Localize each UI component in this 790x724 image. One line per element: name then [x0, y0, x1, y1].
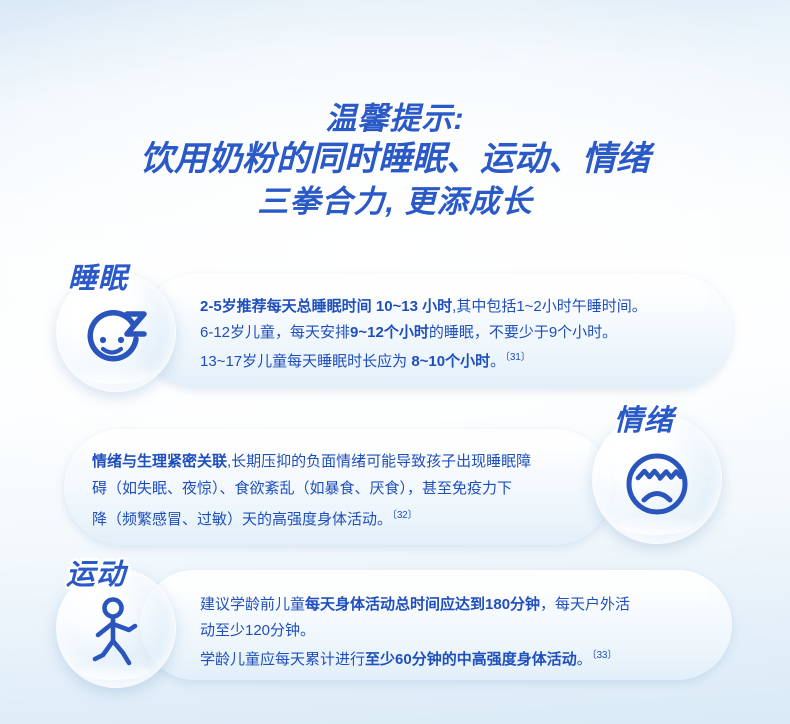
sleep-text-emphasis: 9~12个小时: [350, 324, 429, 341]
page-title-line-3: 三拳合力, 更添成长: [0, 181, 790, 223]
exercise-text-line: 动至少120分钟。: [200, 618, 630, 644]
emotion-label: 情绪: [614, 397, 674, 439]
page-title-line-1: 温馨提示:: [0, 100, 790, 138]
sleep-body-text: 2-5岁推荐每天总睡眠时间 10~13 小时,其中包括1~2小时午睡时间。6-1…: [200, 294, 647, 375]
sleep-text-emphasis: 10~13 小时: [376, 298, 452, 315]
sleep-reference-marker: 〔31〕: [505, 352, 530, 363]
sleep-text-line: 2-5岁推荐每天总睡眠时间 10~13 小时,其中包括1~2小时午睡时间。: [200, 294, 647, 320]
exercise-label: 运动: [66, 551, 126, 593]
exercise-text-run: 建议学龄前儿童: [200, 596, 305, 613]
promo-page: 温馨提示: 饮用奶粉的同时睡眠、运动、情绪 三拳合力, 更添成长 睡眠 2-5岁…: [0, 0, 790, 724]
walking-person-icon: [85, 597, 147, 669]
emotion-text-run: ,长期压抑的负面情绪可能导致孩子出现睡眠障: [227, 453, 531, 470]
exercise-text-line: 建议学龄前儿童每天身体活动总时间应达到180分钟，每天户外活: [200, 592, 630, 618]
sleep-text-run: 6-12岁儿童，每天安排: [200, 324, 350, 341]
exercise-text-line: 学龄儿童应每天累计进行至少60分钟的中高强度身体活动。〔33〕: [200, 643, 630, 673]
sleep-text-emphasis: 2-5岁推荐每天总睡眠时间: [200, 298, 376, 315]
exercise-text-emphasis: 至少60分钟的中高强度身体活动: [365, 651, 577, 668]
exercise-text-run: 动至少120分钟。: [200, 622, 315, 639]
page-title-line-2: 饮用奶粉的同时睡眠、运动、情绪: [0, 138, 790, 181]
sleep-text-run: ,其中包括1~2小时午睡时间。: [452, 298, 647, 315]
sleep-text-run: 13~17岁儿童每天睡眠时长应为: [200, 353, 411, 370]
exercise-body-text: 建议学龄前儿童每天身体活动总时间应达到180分钟，每天户外活动至少120分钟。学…: [200, 592, 630, 673]
emotion-body-text: 情绪与生理紧密关联,长期压抑的负面情绪可能导致孩子出现睡眠障碍（如失眠、夜惊）、…: [92, 448, 531, 533]
exercise-reference-marker: 〔33〕: [592, 650, 617, 661]
emotion-text-line: 情绪与生理紧密关联,长期压抑的负面情绪可能导致孩子出现睡眠障: [92, 448, 531, 475]
sleep-text-line: 6-12岁儿童，每天安排9~12个小时的睡眠，不要少于9个小时。: [200, 320, 647, 346]
exercise-text-run: 。: [577, 651, 592, 668]
emotion-text-run: 碍（如失眠、夜惊）、食欲紊乱（如暴食、厌食），甚至免疫力下: [92, 480, 512, 497]
emotion-text-line: 碍（如失眠、夜惊）、食欲紊乱（如暴食、厌食），甚至免疫力下: [92, 475, 531, 502]
exercise-text-emphasis: 每天身体活动总时间应达到180分钟: [305, 596, 540, 613]
exercise-text-run: 学龄儿童应每天累计进行: [200, 651, 365, 668]
emotion-text-line: 降（频繁感冒、过敏）天的高强度身体活动。〔32〕: [92, 502, 531, 533]
sleep-label: 睡眠: [68, 255, 128, 297]
sleepy-face-icon: [81, 305, 151, 369]
distressed-face-icon: [621, 448, 693, 520]
emotion-text-emphasis: 情绪与生理紧密关联: [92, 453, 227, 470]
exercise-text-run: ，每天户外活: [540, 596, 630, 613]
sleep-text-line: 13~17岁儿童每天睡眠时长应为 8~10个小时。〔31〕: [200, 345, 647, 375]
sleep-text-emphasis: 8~10个小时: [411, 353, 490, 370]
page-title: 温馨提示: 饮用奶粉的同时睡眠、运动、情绪 三拳合力, 更添成长: [0, 100, 790, 223]
sleep-text-run: 的睡眠，不要少于9个小时。: [429, 324, 617, 341]
sleep-text-run: 。: [490, 353, 505, 370]
emotion-reference-marker: 〔32〕: [392, 510, 417, 521]
emotion-text-run: 降（频繁感冒、过敏）天的高强度身体活动。: [92, 511, 392, 528]
